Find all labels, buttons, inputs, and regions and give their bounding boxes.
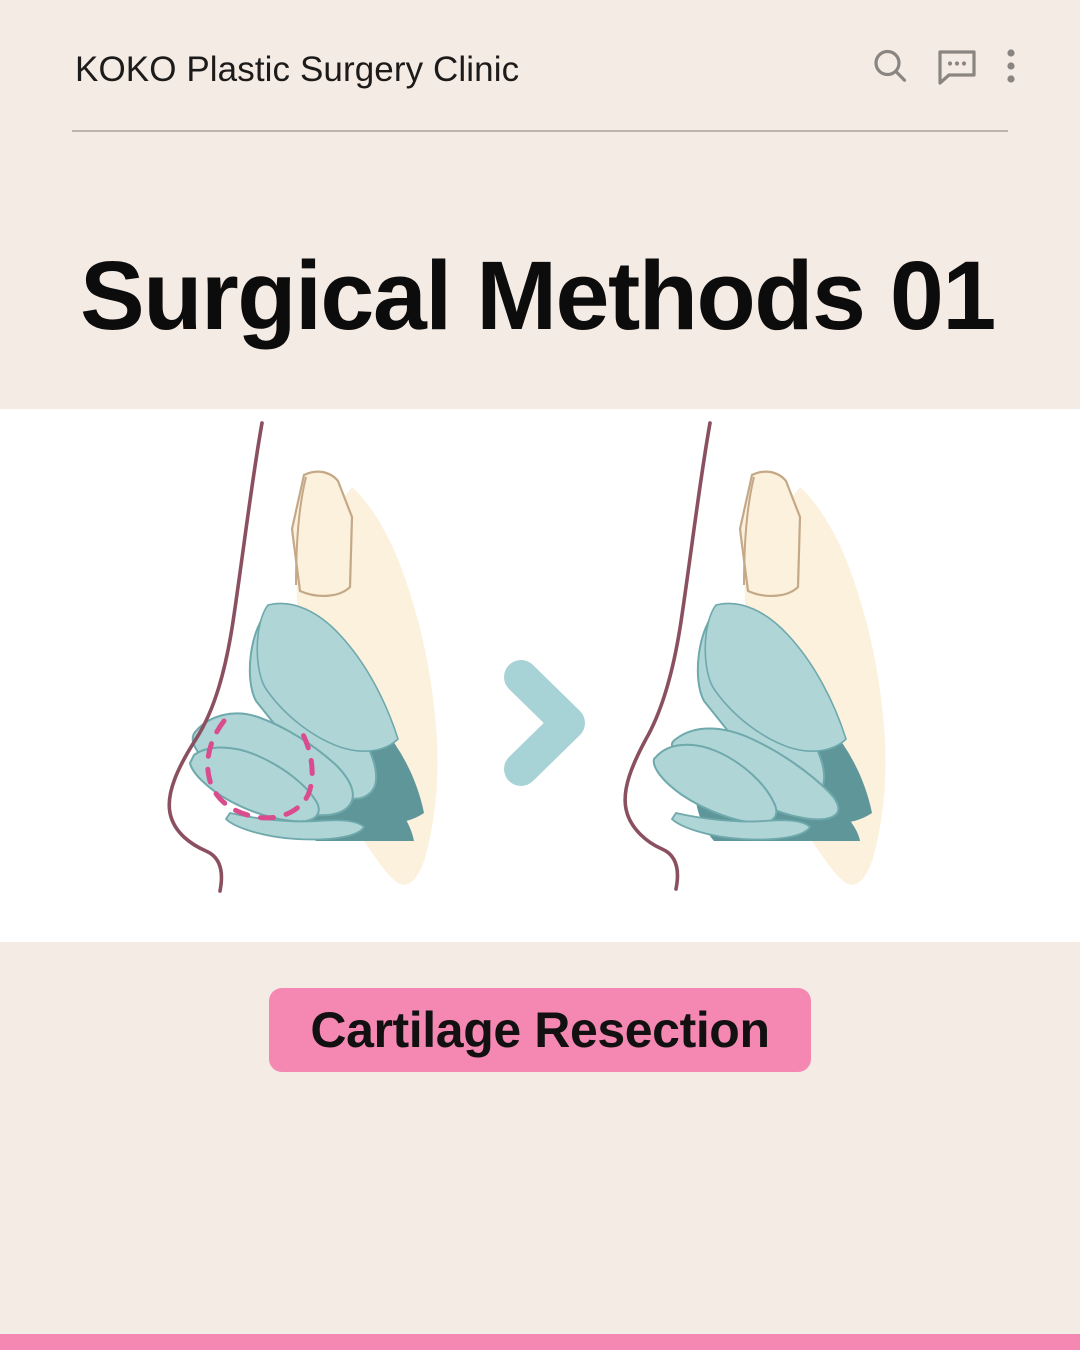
- nose-diagram-after: [625, 423, 885, 889]
- header-actions: [870, 46, 1018, 86]
- page-title: KOKO Plastic Surgery Clinic: [75, 50, 519, 90]
- header-divider: [72, 130, 1008, 132]
- chat-icon[interactable]: [936, 46, 978, 86]
- caption-label: Cartilage Resection: [310, 1001, 769, 1059]
- nose-diagram-before: [169, 423, 437, 891]
- bottom-accent-bar: [0, 1334, 1080, 1350]
- hero-title: Surgical Methods 01: [80, 247, 1020, 346]
- search-icon[interactable]: [870, 46, 910, 86]
- more-vertical-icon[interactable]: [1004, 46, 1018, 86]
- status-badge[interactable]: Cartilage Resection: [269, 988, 811, 1072]
- caption-row: Cartilage Resection: [0, 988, 1080, 1072]
- app-header: KOKO Plastic Surgery Clinic: [0, 0, 1080, 131]
- surgical-illustration-panel: [0, 409, 1080, 942]
- chevron-right-icon: [521, 677, 568, 769]
